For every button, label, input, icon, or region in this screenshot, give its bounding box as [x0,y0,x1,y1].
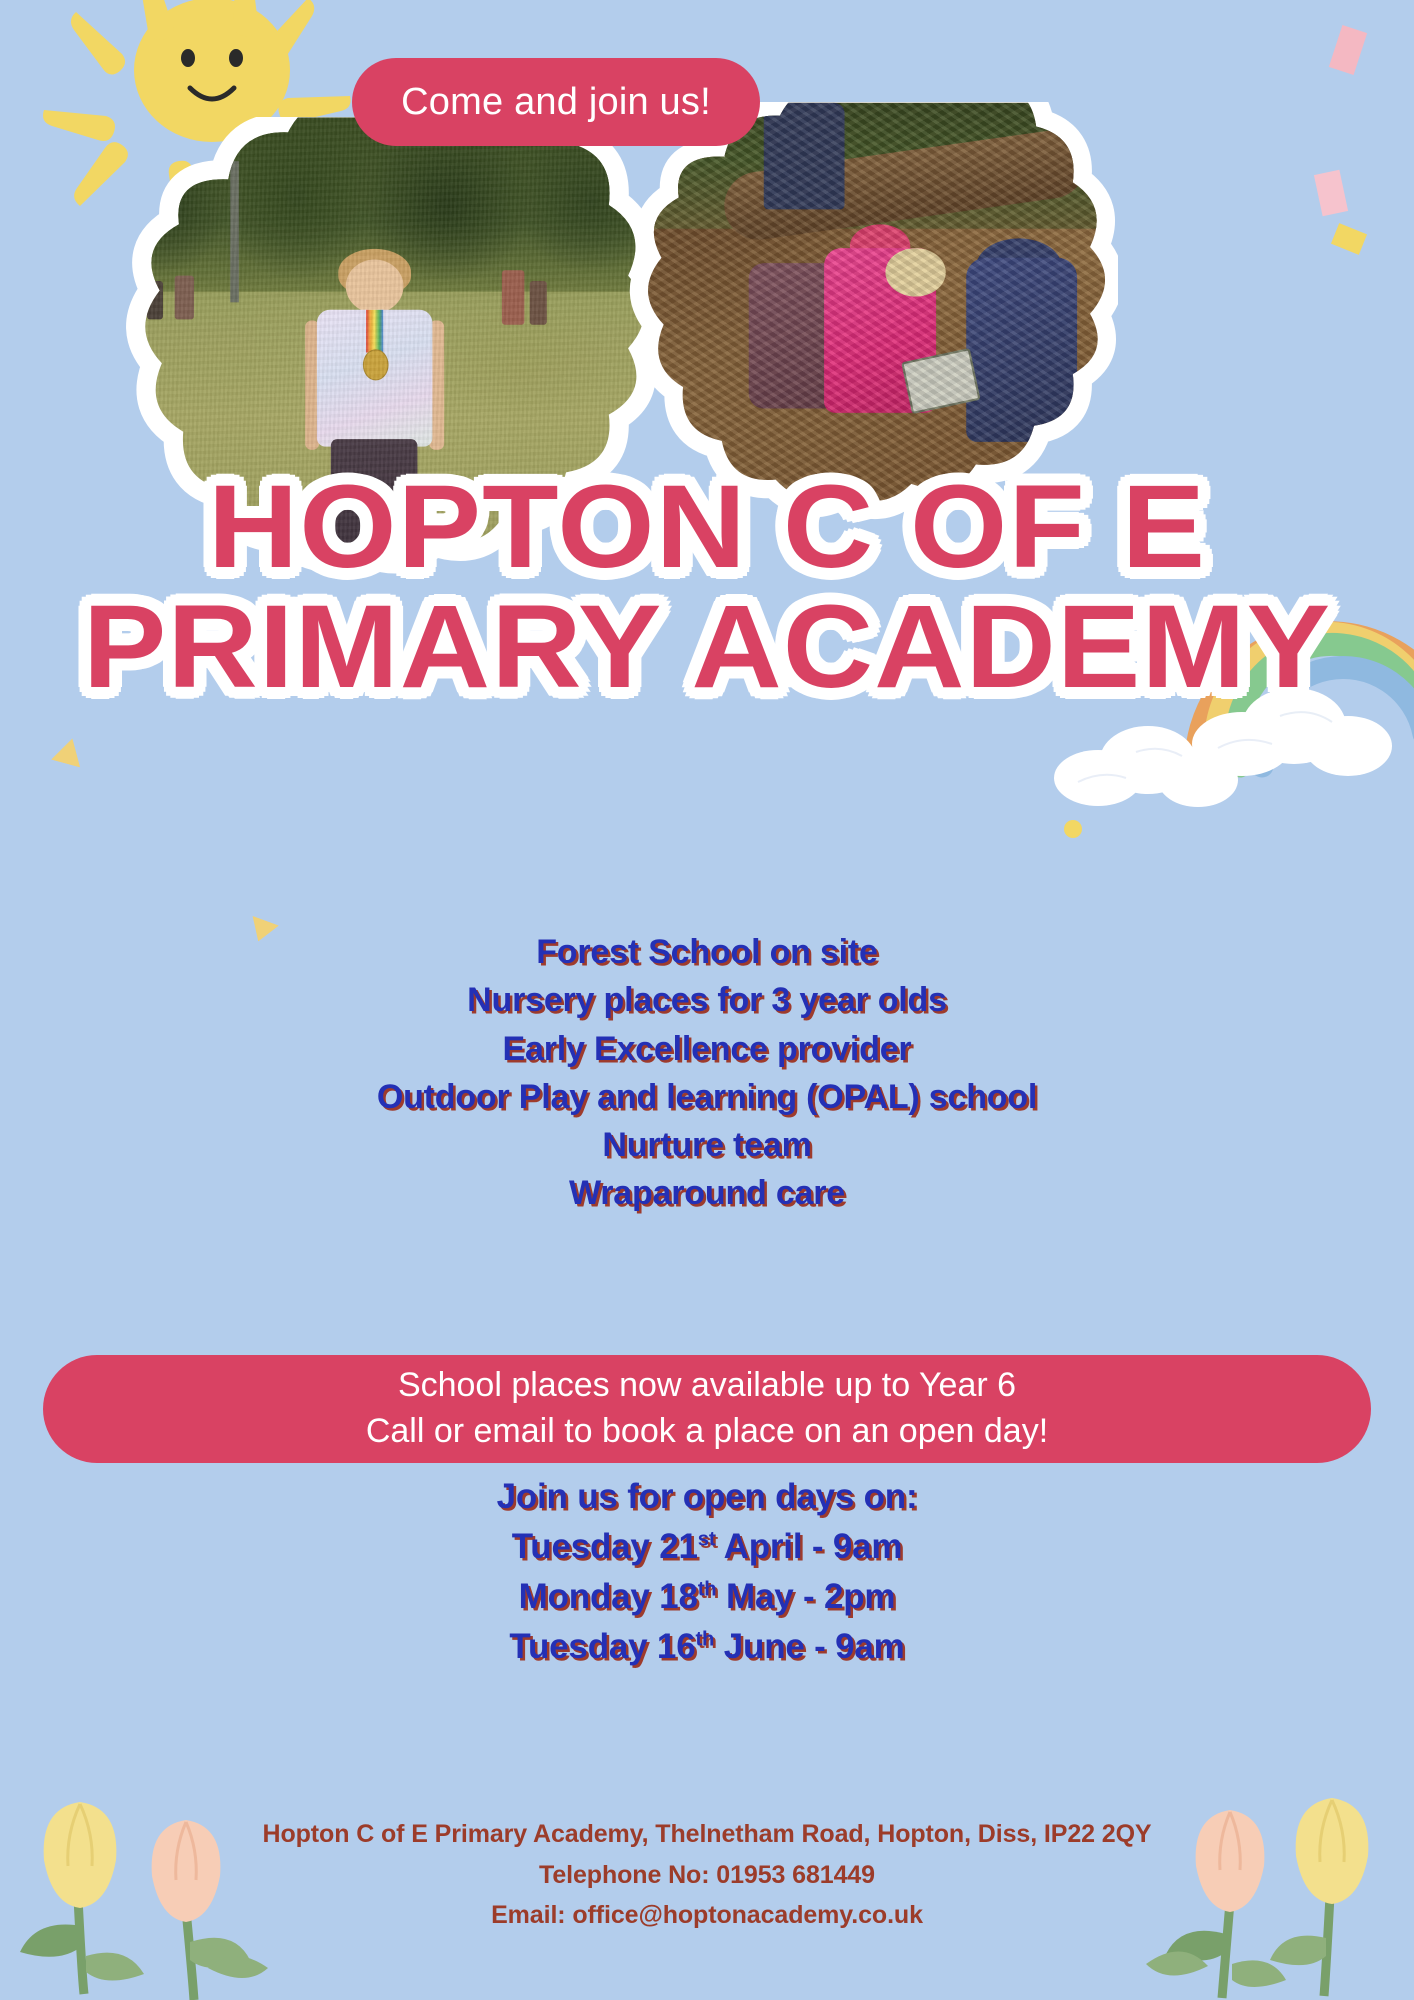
features-list: Forest School on site Nursery places for… [0,928,1414,1218]
open-day-row: Monday 18th May - 2pm [0,1572,1414,1622]
come-and-join-us-badge: Come and join us! [352,58,760,146]
open-days-section: Join us for open days on: Tuesday 21st A… [0,1472,1414,1672]
footer-email: Email: office@hoptonacademy.co.uk [0,1895,1414,1936]
confetti-icon [51,735,87,768]
open-day-date: Tuesday 21 [512,1527,698,1566]
open-day-time: May - 2pm [716,1577,895,1616]
open-day-time: June - 9am [714,1627,904,1666]
open-day-time: April - 9am [715,1527,902,1566]
confetti-icon [1331,223,1367,255]
open-days-heading: Join us for open days on: [0,1472,1414,1522]
come-and-join-us-label: Come and join us! [401,81,711,124]
contact-footer: Hopton C of E Primary Academy, Thelnetha… [0,1814,1414,1936]
feature-item: Outdoor Play and learning (OPAL) school [0,1073,1414,1121]
open-day-row: Tuesday 21st April - 9am [0,1522,1414,1572]
footer-address: Hopton C of E Primary Academy, Thelnetha… [0,1814,1414,1855]
footer-telephone: Telephone No: 01953 681449 [0,1855,1414,1896]
feature-item: Early Excellence provider [0,1025,1414,1073]
cloud-icon [1052,712,1242,812]
banner-line-1: School places now available up to Year 6 [398,1363,1016,1409]
feature-item: Forest School on site [0,928,1414,976]
open-day-row: Tuesday 16th June - 9am [0,1622,1414,1672]
feature-item: Wraparound care [0,1169,1414,1217]
confetti-icon [1329,25,1367,75]
availability-banner: School places now available up to Year 6… [43,1355,1371,1463]
title-line-2: PRIMARY ACADEMY [0,590,1414,706]
poster-root: Come and join us! HOPTON C OF E PRIMARY … [0,0,1414,2000]
banner-line-2: Call or email to book a place on an open… [366,1409,1048,1455]
page-title: HOPTON C OF E PRIMARY ACADEMY [0,470,1414,705]
confetti-icon [1314,170,1348,216]
feature-item: Nursery places for 3 year olds [0,976,1414,1024]
title-line-1: HOPTON C OF E [0,470,1414,586]
open-day-ordinal: th [695,1628,714,1650]
feature-item: Nurture team [0,1121,1414,1169]
open-day-date: Monday 18 [519,1577,698,1616]
open-day-ordinal: st [698,1528,716,1550]
open-day-ordinal: th [698,1578,717,1600]
confetti-icon [1064,820,1082,838]
open-day-date: Tuesday 16 [509,1627,695,1666]
